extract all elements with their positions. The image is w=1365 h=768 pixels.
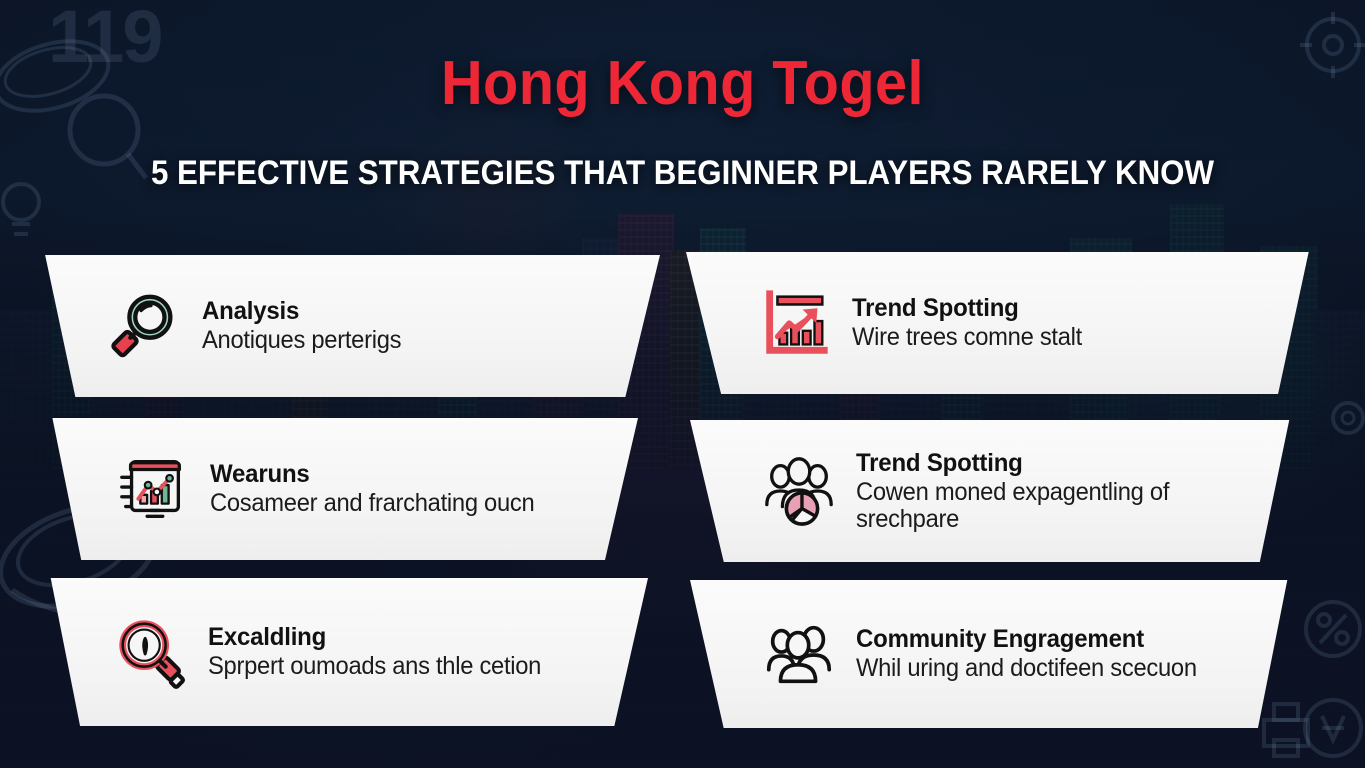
bar-chart-arrow-icon (756, 284, 834, 362)
card-description: Anotiques perterigs (202, 327, 401, 355)
card-title: Excaldling (208, 623, 545, 651)
strategy-card-analysis[interactable]: Analysis Anotiques perterigs (30, 255, 660, 397)
infographic-canvas: 119 Hong Kong Toge (0, 0, 1365, 768)
card-title: Trend Spotting (852, 294, 1084, 322)
page-title: Hong Kong Togel (48, 52, 1317, 116)
people-group-pie-icon (760, 452, 838, 530)
magnifying-glass-mint-icon (106, 287, 184, 365)
card-title: Wearuns (210, 460, 538, 488)
card-title: Community Engragement (856, 625, 1200, 653)
card-title: Trend Spotting (856, 449, 1230, 477)
dashboard-monitor-chart-icon (114, 450, 192, 528)
page-subtitle: 5 EFFECTIVE STRATEGIES THAT BEGINNER PLA… (55, 155, 1311, 192)
strategy-card-wearuns[interactable]: Wearuns Cosameer and frarchating oucn (38, 418, 638, 560)
magnifying-glass-red-icon (112, 613, 190, 691)
card-title: Analysis (202, 297, 403, 325)
strategy-card-excaldling[interactable]: Excaldling Sprpert oumoads ans thle ceti… (36, 578, 648, 726)
card-description: Whil uring and doctifeen scecuon (856, 655, 1197, 683)
card-description: Cowen moned expagentling of srechpare (856, 479, 1227, 534)
strategy-card-community-engragement[interactable]: Community Engragement Whil uring and doc… (690, 580, 1302, 728)
people-group-outline-icon (760, 615, 838, 693)
strategy-card-trend-spotting-chart[interactable]: Trend Spotting Wire trees comne stalt (686, 252, 1324, 394)
strategy-card-trend-spotting-audience[interactable]: Trend Spotting Cowen moned expagentling … (690, 420, 1304, 562)
card-description: Cosameer and frarchating oucn (210, 490, 534, 518)
card-description: Sprpert oumoads ans thle cetion (208, 653, 541, 681)
card-description: Wire trees comne stalt (852, 324, 1082, 352)
